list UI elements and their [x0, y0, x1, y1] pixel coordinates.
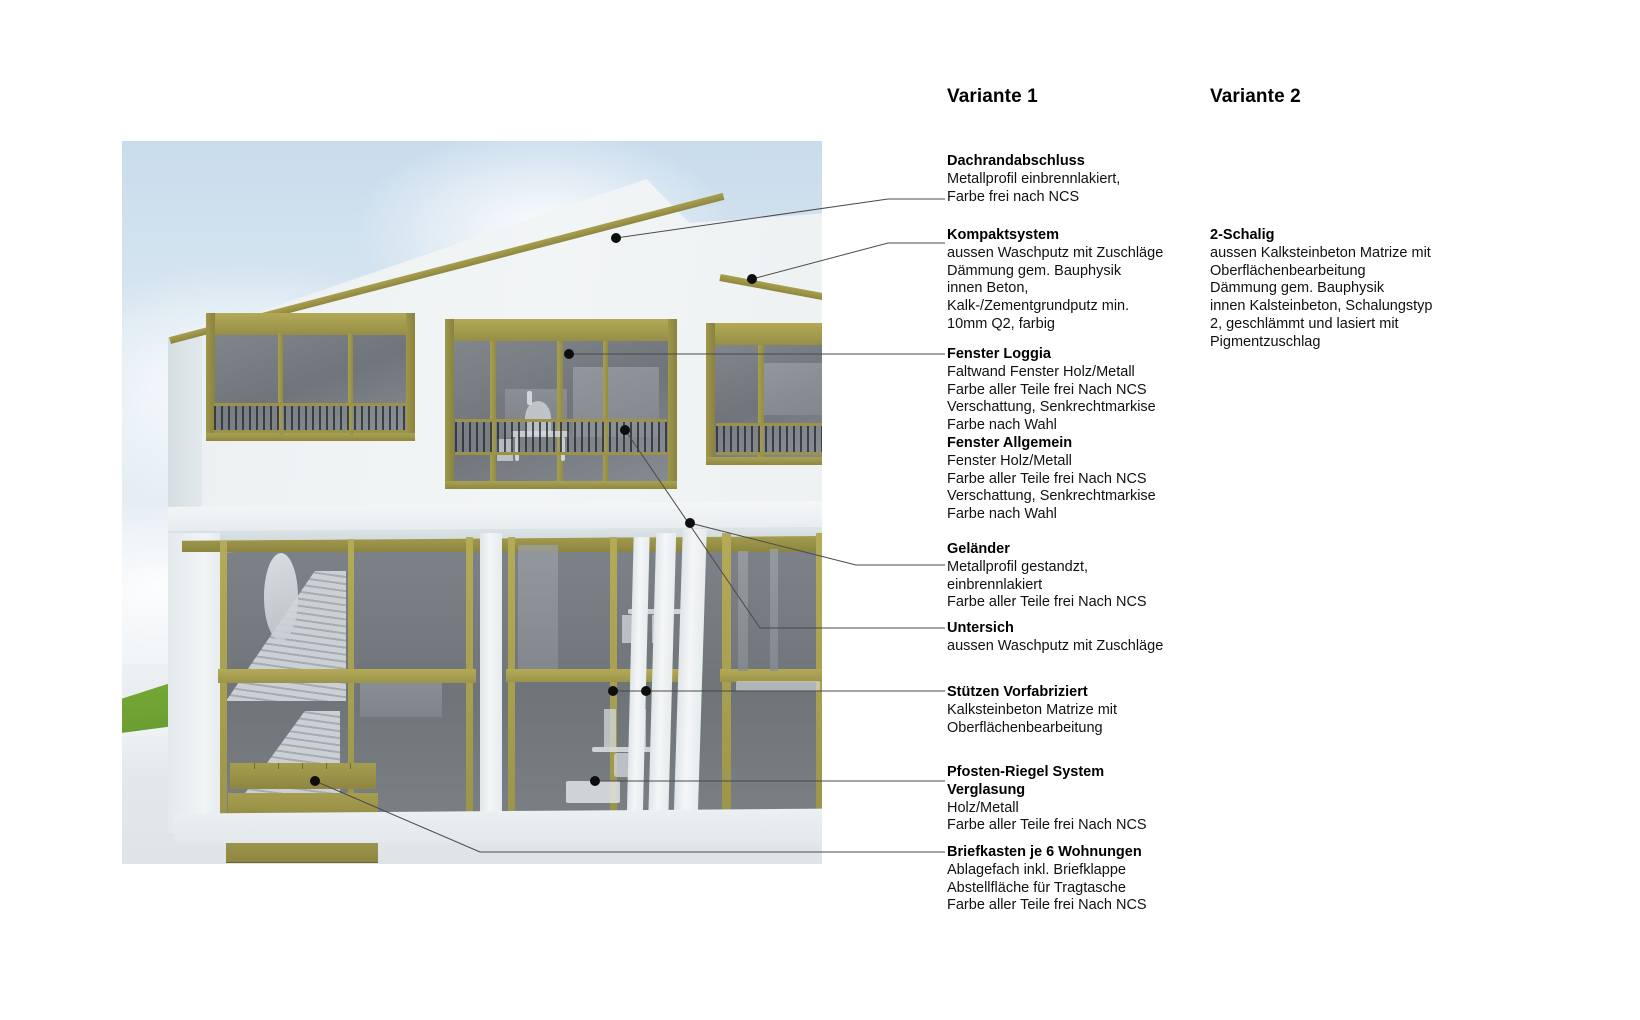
callout-heading: Untersich	[947, 620, 1215, 638]
callout-heading: Kompaktsystem	[947, 227, 1199, 245]
mailbox-top-row	[230, 763, 376, 789]
office-chair	[604, 709, 616, 747]
callout-line: Abstellfläche für Tragtasche	[947, 880, 1215, 898]
callout-heading: Briefkasten je 6 Wohnungen	[947, 844, 1215, 862]
railing-top-rail	[716, 423, 822, 426]
callout-gelaender[interactable]: Geländer Metallprofil gestandzt, einbren…	[947, 541, 1199, 612]
architectural-rendering	[122, 141, 822, 864]
callout-line: 2, geschlämmt und lasiert mit	[1210, 316, 1478, 334]
callout-heading: Dachrandabschluss	[947, 153, 1199, 171]
callout-heading-verglasung: Verglasung	[947, 782, 1199, 800]
page-canvas: Variante 1 Dachrandabschluss Metallprofi…	[0, 0, 1640, 1020]
balcony-railing	[716, 423, 822, 455]
callout-briefkasten[interactable]: Briefkasten je 6 Wohnungen Ablagefach in…	[947, 844, 1215, 915]
callout-line: aussen Waschputz mit Zuschläge	[947, 638, 1215, 656]
callout-untersich[interactable]: Untersich aussen Waschputz mit Zuschläge	[947, 620, 1215, 656]
callout-heading: Geländer	[947, 541, 1199, 559]
loggia-jamb-left	[445, 319, 454, 489]
callout-line: Kalk-/Zementgrundputz min.	[947, 298, 1199, 316]
callout-line: 10mm Q2, farbig	[947, 316, 1199, 334]
window-jamb-left	[706, 323, 715, 465]
glazing-transom	[218, 669, 476, 683]
callout-line: aussen Kalksteinbeton Matrize mit	[1210, 245, 1478, 263]
interior-partition-pier	[480, 533, 502, 833]
loggia-sill	[445, 481, 677, 489]
railing-bottom-rail	[455, 452, 667, 455]
loggia-lamp	[527, 391, 532, 405]
variant2-column: Variante 2	[1210, 86, 1480, 108]
glazing-post	[508, 537, 515, 829]
oval-stairwell-window	[264, 553, 298, 641]
mailbox-edge	[226, 862, 378, 863]
callout-line: Pigmentzuschlag	[1210, 334, 1478, 352]
glazing-post	[466, 537, 473, 829]
callout-line: Farbe aller Teile frei Nach NCS	[947, 817, 1199, 835]
callout-line: Dämmung gem. Bauphysik	[1210, 280, 1478, 298]
callout-line: einbrennlakiert	[947, 577, 1199, 595]
interior-door-frame	[738, 551, 748, 671]
variant2-title: Variante 2	[1210, 86, 1480, 108]
loggia-mullion	[603, 341, 608, 481]
callout-dachrandabschluss[interactable]: Dachrandabschluss Metallprofil einbrennl…	[947, 153, 1199, 206]
callout-line: Faltwand Fenster Holz/Metall	[947, 364, 1199, 382]
callout-kompaktsystem[interactable]: Kompaktsystem aussen Waschputz mit Zusch…	[947, 227, 1199, 334]
loggia-railing	[455, 419, 667, 455]
callout-subheading-fenster-allgemein: Fenster Allgemein	[947, 435, 1199, 453]
mailbox-divider	[326, 763, 327, 769]
interior-door-frame	[770, 549, 778, 671]
callout-line: Oberflächenbearbeitung	[947, 720, 1199, 738]
loggia-jamb-right	[668, 319, 677, 489]
mailbox-divider	[278, 763, 279, 769]
callout-line: innen Beton,	[947, 280, 1199, 298]
callout-line: Holz/Metall	[947, 800, 1199, 818]
railing-top-rail	[455, 419, 667, 422]
mailbox-divider	[254, 763, 255, 769]
callout-heading: Fenster Loggia	[947, 346, 1199, 364]
callout-line: Metallprofil einbrennlakiert,	[947, 171, 1199, 189]
callout-line: aussen Waschputz mit Zuschläge	[947, 245, 1199, 263]
railing-bottom-rail	[214, 430, 407, 433]
callout-line: Kalksteinbeton Matrize mit	[947, 702, 1199, 720]
callout-line: Farbe aller Teile frei Nach NCS	[947, 897, 1215, 915]
callout-heading: Pfosten-Riegel System	[947, 764, 1199, 782]
callout-line: innen Kalsteinbeton, Schalungstyp	[1210, 298, 1478, 316]
window-upper-left	[206, 313, 415, 441]
callout-line: Fenster Holz/Metall	[947, 453, 1199, 471]
balcony-railing	[214, 403, 407, 433]
callout-line: Verschattung, Senkrechtmarkise	[947, 399, 1199, 417]
glazing-post	[220, 541, 227, 829]
window-upper-right	[706, 323, 822, 465]
stairhall-shelf	[360, 681, 442, 717]
loggia-opening	[445, 319, 677, 489]
callout-line: Verschattung, Senkrechtmarkise	[947, 488, 1199, 506]
window-head-reveal	[706, 323, 822, 345]
callout-heading: 2-Schalig	[1210, 227, 1478, 245]
mailbox-divider	[350, 763, 351, 769]
callout-line: Oberflächenbearbeitung	[1210, 263, 1478, 281]
desk	[592, 747, 654, 752]
window-jamb-right	[406, 313, 415, 441]
callout-line: Farbe aller Teile frei Nach NCS	[947, 382, 1199, 400]
callout-fenster-loggia[interactable]: Fenster Loggia Faltwand Fenster Holz/Met…	[947, 346, 1199, 524]
window-sill	[706, 457, 822, 465]
callout-line: Metallprofil gestandzt,	[947, 559, 1199, 577]
callout-line: Farbe nach Wahl	[947, 417, 1199, 435]
callout-heading: Stützen Vorfabriziert	[947, 684, 1199, 702]
railing-bottom-rail	[716, 452, 822, 455]
interior-wall-panel	[518, 545, 558, 669]
loggia-head-reveal	[445, 319, 677, 341]
ground-floor-pier-left	[168, 533, 220, 833]
callout-pfosten-riegel[interactable]: Pfosten-Riegel System Verglasung Holz/Me…	[947, 764, 1199, 835]
callout-2-schalig[interactable]: 2-Schalig aussen Kalksteinbeton Matrize …	[1210, 227, 1478, 352]
window-sill	[206, 433, 415, 441]
callout-line: Farbe nach Wahl	[947, 506, 1199, 524]
interior-wall	[764, 363, 822, 415]
callout-line: Ablagefach inkl. Briefklappe	[947, 862, 1215, 880]
railing-top-rail	[214, 403, 407, 406]
sideboard	[566, 781, 620, 803]
callout-line: Farbe aller Teile frei Nach NCS	[947, 471, 1199, 489]
window-head-reveal	[206, 313, 415, 335]
interior-ledge	[736, 681, 820, 691]
loggia-mullion	[490, 341, 496, 481]
callout-line: Farbe frei nach NCS	[947, 189, 1199, 207]
variant1-column: Variante 1	[947, 86, 1197, 108]
glazing-post	[722, 533, 731, 833]
variant1-title: Variante 1	[947, 86, 1197, 108]
mailbox-divider	[302, 763, 303, 769]
callout-stuetzen-vorfabriziert[interactable]: Stützen Vorfabriziert Kalksteinbeton Mat…	[947, 684, 1199, 737]
callout-line: Dämmung gem. Bauphysik	[947, 263, 1199, 281]
callout-line: Farbe aller Teile frei Nach NCS	[947, 594, 1199, 612]
